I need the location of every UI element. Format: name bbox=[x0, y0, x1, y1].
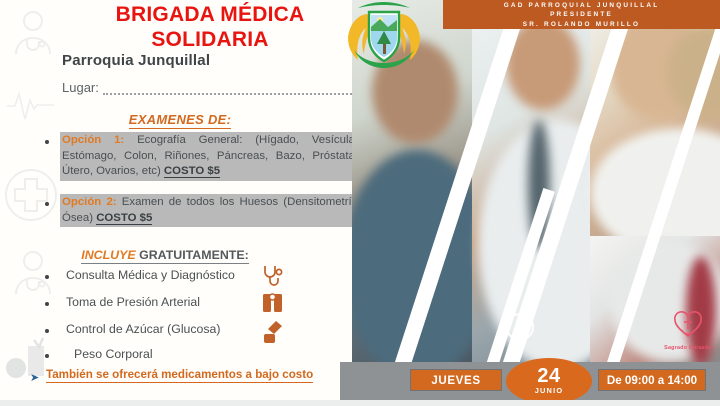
exams-heading: EXAMENES DE: bbox=[0, 112, 360, 127]
service-item-1: Consulta Médica y Diagnóstico bbox=[66, 268, 235, 282]
bullet-service-4 bbox=[45, 354, 49, 358]
schedule-day-badge: JUEVES bbox=[410, 369, 502, 391]
title-line-2: SOLIDARIA bbox=[80, 27, 340, 52]
includes-heading-orange: INCLUYE bbox=[81, 248, 135, 262]
bullet-service-1 bbox=[45, 275, 49, 279]
schedule-date-badge: 24 JUNIO bbox=[506, 358, 592, 404]
left-content-panel: BRIGADA MÉDICA SOLIDARIA Parroquia Junqu… bbox=[0, 0, 360, 406]
poster-root: BRIGADA MÉDICA SOLIDARIA Parroquia Junqu… bbox=[0, 0, 720, 406]
schedule-date-month: JUNIO bbox=[506, 386, 592, 395]
glucose-meter-icon bbox=[262, 320, 284, 349]
page-title: BRIGADA MÉDICA SOLIDARIA bbox=[80, 2, 340, 52]
sagrado-corazon-label: Sagrado Corazón bbox=[663, 345, 713, 351]
schedule-hours-badge: De 09:00 a 14:00 bbox=[598, 369, 706, 391]
gad-emblem-icon bbox=[336, 0, 432, 72]
stethoscope-icon bbox=[262, 264, 284, 294]
place-dotted-line bbox=[103, 86, 352, 95]
service-item-4: Peso Corporal bbox=[74, 347, 153, 361]
medical-cross-watermark-icon bbox=[4, 168, 58, 222]
bullet-option-2 bbox=[45, 202, 49, 206]
option-2-lead: Opción 2: bbox=[62, 196, 117, 208]
arrow-bullet-icon: ➤ bbox=[30, 371, 39, 384]
option-1-block: Opción 1: Ecografía General: (Hígado, Ve… bbox=[60, 132, 360, 181]
bullet-service-3 bbox=[45, 329, 49, 333]
banner-line-1: GAD PARROQUIAL JUNQUILLAL bbox=[443, 1, 720, 10]
title-line-1: BRIGADA MÉDICA bbox=[80, 2, 340, 27]
low-cost-note: También se ofrecerá medicamentos a bajo … bbox=[46, 368, 313, 383]
schedule-date-number: 24 bbox=[506, 358, 592, 386]
option-2-block: Opción 2: Examen de todos los Huesos (De… bbox=[60, 194, 360, 227]
includes-heading-gray: GRATUITAMENTE: bbox=[136, 248, 249, 262]
parish-subtitle: Parroquia Junquillal bbox=[62, 52, 210, 69]
authority-banner: GAD PARROQUIAL JUNQUILLAL PRESIDENTE SR.… bbox=[443, 0, 720, 29]
includes-heading: INCLUYE GRATUITAMENTE: bbox=[0, 248, 330, 262]
bullet-option-1 bbox=[45, 140, 49, 144]
option-2-cost: COSTO $5 bbox=[96, 212, 152, 225]
service-item-3: Control de Azúcar (Glucosa) bbox=[66, 322, 220, 336]
service-item-2: Toma de Presión Arterial bbox=[66, 295, 200, 309]
place-field: Lugar: bbox=[62, 80, 352, 95]
option-1-cost: COSTO $5 bbox=[164, 165, 220, 178]
bullet-service-2 bbox=[45, 302, 49, 306]
blood-pressure-cuff-icon bbox=[262, 292, 284, 319]
banner-line-3: SR. ROLANDO MURILLO bbox=[443, 20, 720, 29]
doctor-watermark-icon bbox=[10, 8, 56, 56]
place-label: Lugar: bbox=[62, 80, 99, 95]
banner-line-2: PRESIDENTE bbox=[443, 10, 720, 19]
option-1-lead: Opción 1: bbox=[62, 134, 124, 146]
bottom-strip bbox=[0, 400, 720, 406]
sagrado-corazon-logo: Sagrado Corazón bbox=[663, 311, 713, 351]
clock-icon bbox=[506, 313, 534, 341]
